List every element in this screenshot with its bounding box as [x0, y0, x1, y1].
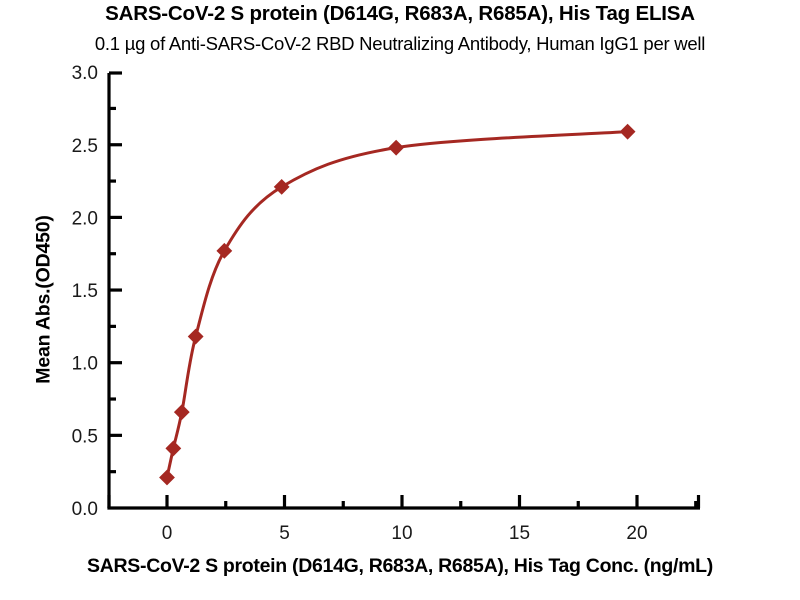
x-tick-label: 0 — [162, 523, 173, 544]
x-tick-label: 15 — [509, 523, 530, 544]
y-tick-label: 0.0 — [72, 499, 98, 520]
series-curve — [167, 132, 628, 478]
data-point-marker — [160, 470, 174, 484]
x-axis-major-ticks — [167, 495, 637, 508]
y-tick-label: 1.0 — [72, 354, 98, 375]
x-tick-label: 5 — [279, 523, 290, 544]
data-point-marker — [217, 244, 231, 258]
y-axis-major-ticks — [109, 145, 122, 436]
x-axis-tick-labels: 05101520 — [162, 523, 648, 544]
y-axis-tick-labels: 0.00.51.01.52.02.53.0 — [72, 63, 98, 520]
chart-page: SARS-CoV-2 S protein (D614G, R683A, R685… — [0, 0, 800, 600]
y-tick-label: 1.5 — [72, 281, 98, 302]
data-point-marker — [620, 124, 634, 138]
data-point-marker — [274, 180, 288, 194]
x-tick-label: 20 — [626, 523, 647, 544]
data-point-marker — [175, 405, 189, 419]
y-tick-label: 2.5 — [72, 136, 98, 157]
data-point-marker — [389, 140, 403, 154]
plot-area: 0.00.51.01.52.02.53.0 05101520 — [0, 0, 800, 600]
x-tick-label: 10 — [391, 523, 412, 544]
y-tick-label: 3.0 — [72, 63, 98, 84]
data-series-line — [167, 132, 628, 478]
data-point-marker — [188, 329, 202, 343]
y-tick-label: 0.5 — [72, 426, 98, 447]
axis-spines — [107, 73, 700, 508]
data-series-markers — [160, 124, 635, 484]
data-point-marker — [166, 441, 180, 455]
y-tick-label: 2.0 — [72, 208, 98, 229]
